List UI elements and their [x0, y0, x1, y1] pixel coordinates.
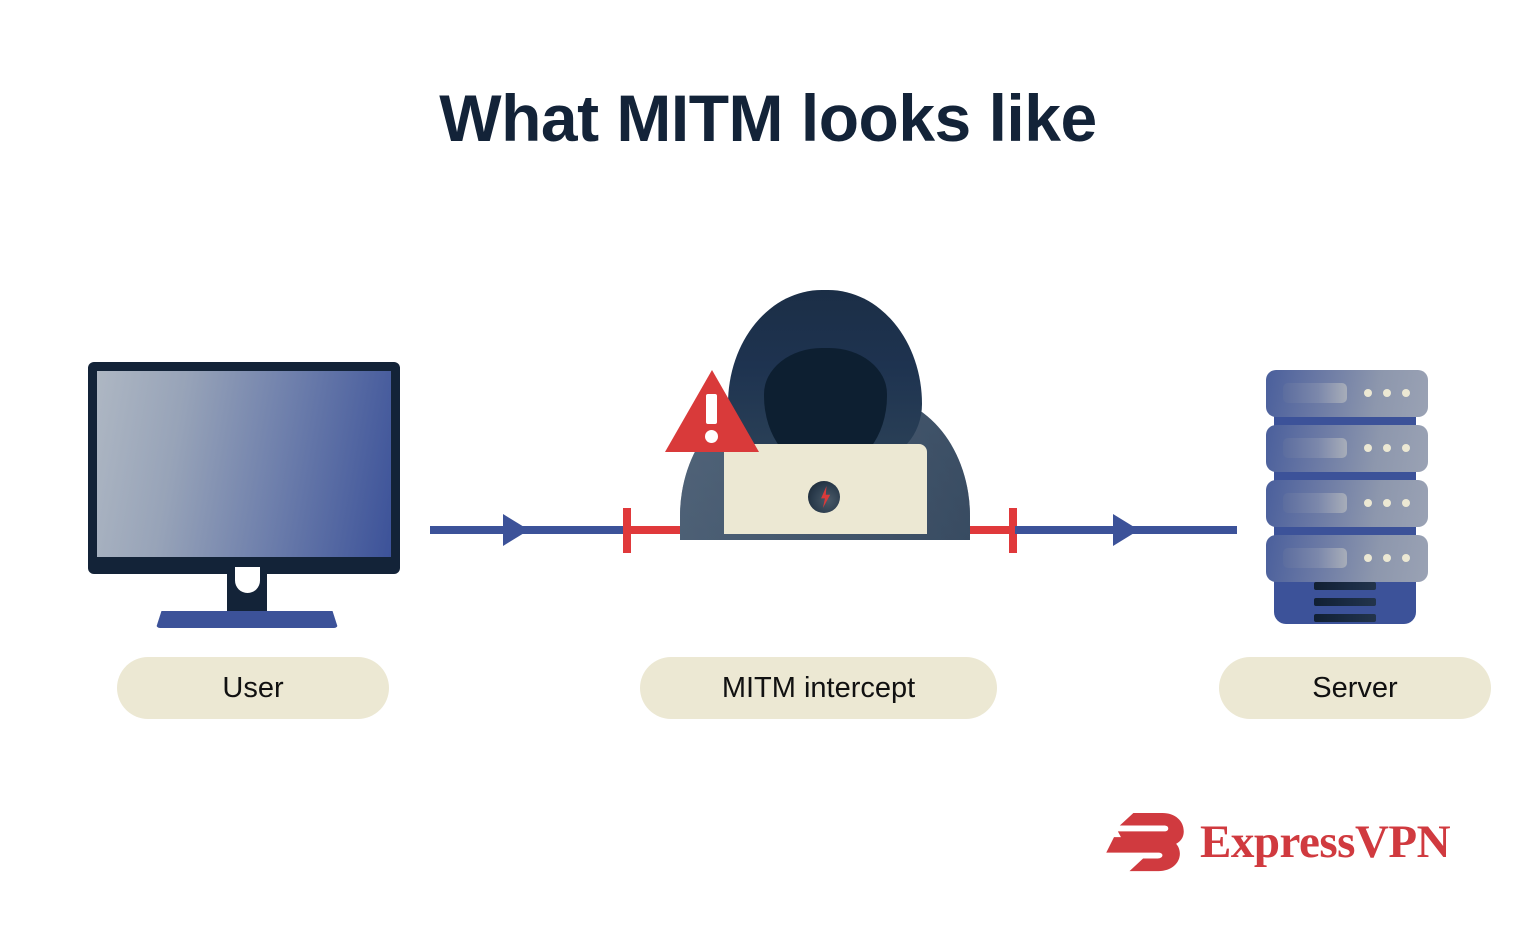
monitor-screen — [97, 371, 391, 557]
server-detail-line — [1314, 582, 1376, 590]
server-slot-bar — [1283, 493, 1347, 513]
server-slot-dots — [1364, 444, 1410, 452]
warning-exclamation-dot — [705, 430, 718, 443]
node-label-user-text: User — [222, 672, 283, 705]
server-slot-bar — [1283, 438, 1347, 458]
server-slot-bar — [1283, 548, 1347, 568]
node-label-mitm-intercept: MITM intercept — [640, 657, 997, 719]
expressvpn-wordmark: ExpressVPN — [1200, 819, 1450, 866]
node-label-user: User — [117, 657, 389, 719]
server-slot — [1266, 535, 1428, 582]
arrow-right-icon — [503, 514, 529, 546]
server-slot — [1266, 480, 1428, 527]
server-slot — [1266, 425, 1428, 472]
server-rack-icon — [1266, 368, 1436, 626]
desktop-monitor-icon — [88, 362, 408, 630]
server-detail-line — [1314, 614, 1376, 622]
server-slot-dots — [1364, 389, 1410, 397]
server-slot-dots — [1364, 554, 1410, 562]
server-detail-line — [1314, 598, 1376, 606]
node-label-mitm-text: MITM intercept — [722, 672, 915, 705]
expressvpn-e-mark-icon — [1104, 811, 1186, 873]
arrow-right-icon — [1113, 514, 1139, 546]
monitor-neck-notch — [235, 567, 260, 593]
node-label-server-text: Server — [1312, 672, 1397, 705]
monitor-base — [156, 611, 338, 628]
mitm-diagram: User MITM intercept Server — [0, 0, 1536, 932]
hooded-hacker-with-laptop-icon — [660, 290, 990, 540]
node-label-server: Server — [1219, 657, 1491, 719]
warning-exclamation-bar — [706, 394, 717, 424]
server-slot-bar — [1283, 383, 1347, 403]
server-slot-dots — [1364, 499, 1410, 507]
expressvpn-logo: ExpressVPN — [1104, 806, 1444, 878]
server-slot — [1266, 370, 1428, 417]
